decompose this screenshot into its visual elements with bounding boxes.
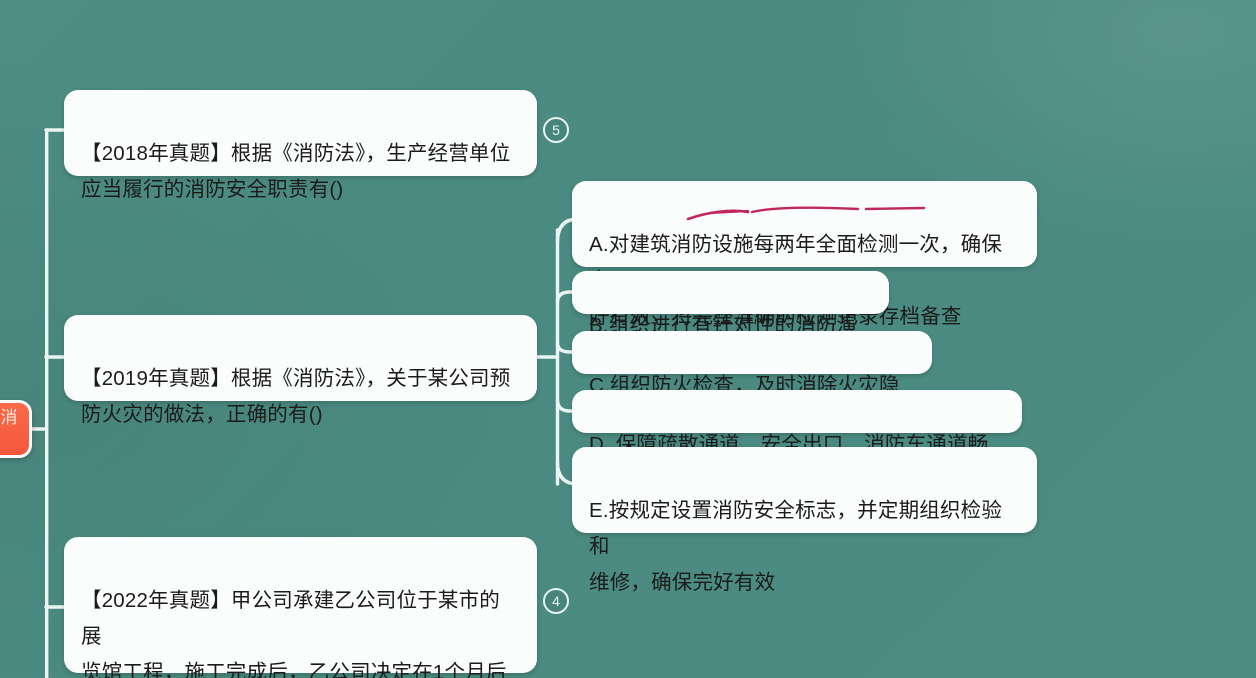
node-option-b[interactable]: B.组织进行有针对性的消防演练 [572,271,889,314]
root-node-label: 消 [1,408,18,427]
root-node[interactable]: 消 [0,400,32,458]
node-question-2022[interactable]: 【2022年真题】甲公司承建乙公司位于某市的展 览馆工程，施工完成后，乙公司决定… [64,537,537,673]
node-option-d[interactable]: D. 保障疏散通道、安全出口、消防车通道畅通 [572,390,1022,433]
node-option-e[interactable]: E.按规定设置消防安全标志，并定期组织检验和 维修，确保完好有效 [572,447,1037,533]
node-option-a[interactable]: A.对建筑消防设施每两年全面检测一次，确保完 好有效，将完整准确的检测记录存档备… [572,181,1037,267]
mindmap-canvas[interactable]: 消 【2018年真题】根据《消防法》，生产经营单位 应当履行的消防安全职责有()… [0,0,1256,678]
node-question-2018[interactable]: 【2018年真题】根据《消防法》，生产经营单位 应当履行的消防安全职责有() [64,90,537,176]
node-text: 【2019年真题】根据《消防法》，关于某公司预 防火灾的做法，正确的有() [81,367,510,426]
badge-label: 5 [552,122,560,138]
node-text: 【2022年真题】甲公司承建乙公司位于某市的展 览馆工程，施工完成后，乙公司决定… [81,589,507,678]
node-text: E.按规定设置消防安全标志，并定期组织检验和 维修，确保完好有效 [589,499,1002,594]
node-question-2019[interactable]: 【2019年真题】根据《消防法》，关于某公司预 防火灾的做法，正确的有() [64,315,537,401]
node-text: 【2018年真题】根据《消防法》，生产经营单位 应当履行的消防安全职责有() [81,142,510,201]
badge-count-5[interactable]: 5 [543,117,569,143]
node-option-c[interactable]: C.组织防火检查，及时消除火灾隐患 [572,331,932,374]
badge-label: 4 [552,593,560,609]
badge-count-4[interactable]: 4 [543,588,569,614]
